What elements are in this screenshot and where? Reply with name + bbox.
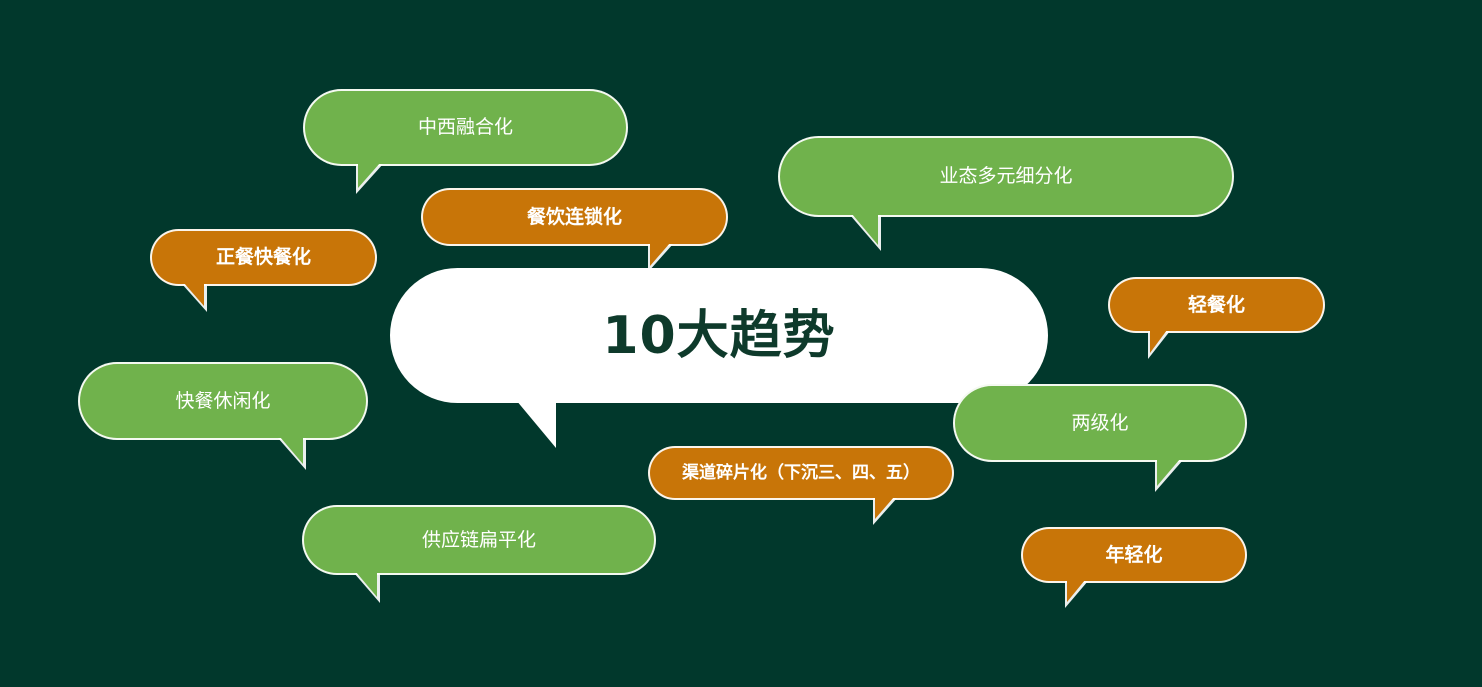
trend-tail-kuaican-xiuxianhua xyxy=(280,437,303,464)
trend-tail-gongyinglian-bianpinghua-outline xyxy=(354,573,380,603)
trend-bubble-yetai-duoyuan-xifenhua[interactable]: 业态多元细分化 xyxy=(778,136,1234,217)
trend-bubble-label: 快餐休闲化 xyxy=(161,392,284,411)
trend-tail-qudao-suipianhua-outline xyxy=(873,498,897,525)
trend-tail-qudao-suipianhua xyxy=(875,497,894,519)
trend-tail-gongyinglian-bianpinghua xyxy=(356,572,377,597)
trend-tail-qingcanhua-outline xyxy=(1148,331,1170,359)
trend-tail-zhongxi-ronghehua xyxy=(358,163,380,188)
trend-bubble-label: 正餐快餐化 xyxy=(202,248,325,267)
center-bubble-label: 10大趋势 xyxy=(588,310,849,362)
trend-bubble-nianqinghua[interactable]: 年轻化 xyxy=(1021,527,1247,583)
trend-bubble-kuaican-xiuxianhua[interactable]: 快餐休闲化 xyxy=(78,362,368,440)
trend-tail-nianqinghua-outline xyxy=(1065,581,1088,608)
trend-bubble-label: 中西融合化 xyxy=(404,118,527,137)
trends-diagram: 中西融合化 餐饮连锁化 正餐快餐化 业态多元细分化 轻餐化 10大趋势 快餐休闲… xyxy=(0,0,1482,687)
center-bubble[interactable]: 10大趋势 xyxy=(390,268,1048,403)
trend-bubble-liangjihua[interactable]: 两级化 xyxy=(953,384,1247,462)
trend-tail-liangjihua xyxy=(1157,459,1180,486)
trend-bubble-label: 轻餐化 xyxy=(1174,296,1259,315)
trend-bubble-label: 渠道碎片化（下沉三、四、五） xyxy=(668,465,934,482)
center-bubble-tail xyxy=(516,400,556,448)
trend-bubble-zhengcan-kuaicanhua[interactable]: 正餐快餐化 xyxy=(150,229,377,286)
trend-tail-zhengcan-kuaicanhua-outline xyxy=(182,284,207,312)
trend-bubble-gongyinglian-bianpinghua[interactable]: 供应链扁平化 xyxy=(302,505,656,575)
trend-bubble-qudao-suipianhua[interactable]: 渠道碎片化（下沉三、四、五） xyxy=(648,446,954,500)
trend-tail-qingcanhua xyxy=(1150,330,1167,353)
trend-tail-zhongxi-ronghehua-outline xyxy=(356,164,383,194)
trend-bubble-canyin-liansuohua[interactable]: 餐饮连锁化 xyxy=(421,188,728,246)
trend-tail-yetai-duoyuan-xifenhua xyxy=(852,214,878,245)
trend-tail-liangjihua-outline xyxy=(1155,460,1183,492)
trend-bubble-label: 年轻化 xyxy=(1091,546,1176,565)
trend-bubble-qingcanhua[interactable]: 轻餐化 xyxy=(1108,277,1325,333)
trend-bubble-zhongxi-ronghehua[interactable]: 中西融合化 xyxy=(303,89,628,166)
trend-bubble-label: 业态多元细分化 xyxy=(925,167,1086,186)
trend-tail-zhengcan-kuaicanhua xyxy=(184,283,204,306)
trend-bubble-label: 两级化 xyxy=(1057,414,1142,433)
trend-bubble-label: 供应链扁平化 xyxy=(408,531,550,550)
trend-tail-yetai-duoyuan-xifenhua-outline xyxy=(850,215,881,251)
trend-tail-nianqinghua xyxy=(1067,580,1085,602)
trend-tail-kuaican-xiuxianhua-outline xyxy=(278,438,306,470)
trend-bubble-label: 餐饮连锁化 xyxy=(513,208,636,227)
trend-tail-canyin-liansuohua xyxy=(650,243,670,266)
